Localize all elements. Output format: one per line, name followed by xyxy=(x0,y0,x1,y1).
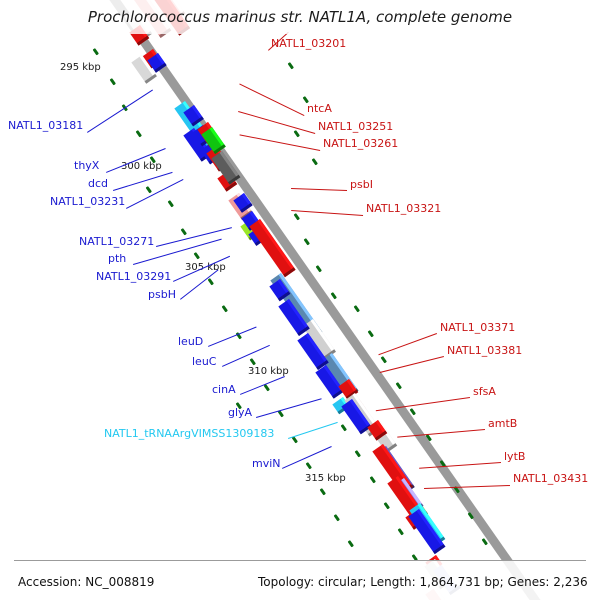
gene-label-lytb[interactable]: lytB xyxy=(504,451,525,463)
gene-label-leuc[interactable]: leuC xyxy=(192,356,216,368)
gene-label-sfsa[interactable]: sfsA xyxy=(473,386,496,398)
feature-tick-mark xyxy=(93,48,99,55)
page-title: Prochlorococcus marinus str. NATL1A, com… xyxy=(0,8,600,26)
feature-tick-mark xyxy=(398,528,404,535)
gene-label-natl1-03251[interactable]: NATL1_03251 xyxy=(318,121,393,133)
genome-graphics-canvas[interactable] xyxy=(0,0,600,600)
feature-tick-mark xyxy=(168,200,174,207)
feature-tick-mark xyxy=(312,158,318,165)
topology-text: Topology: circular; Length: 1,864,731 bp… xyxy=(258,575,588,589)
gene-label-ntca[interactable]: ntcA xyxy=(307,103,332,115)
gene-label-natl1-03371[interactable]: NATL1_03371 xyxy=(440,322,515,334)
gene-label-natl1-03291[interactable]: NATL1_03291 xyxy=(96,271,171,283)
feature-tick-mark xyxy=(396,382,402,389)
feature-tick-mark xyxy=(331,292,337,299)
feature-tick-mark xyxy=(294,130,300,137)
feature-tick-mark xyxy=(316,265,322,272)
gene-label-natl1-03181[interactable]: NATL1_03181 xyxy=(8,120,83,132)
gene-label-natl1-trnaargvimss1309183[interactable]: NATL1_tRNAArgVIMSS1309183 xyxy=(104,428,274,440)
scale-label-0: 295 kbp xyxy=(60,62,101,73)
feature-tick-mark xyxy=(146,186,152,193)
feature-tick-mark xyxy=(348,540,354,547)
gene-label-dcd[interactable]: dcd xyxy=(88,178,108,190)
gene-label-cina[interactable]: cinA xyxy=(212,384,236,396)
gene-label-natl1-03261[interactable]: NATL1_03261 xyxy=(323,138,398,150)
feature-tick-mark xyxy=(370,476,376,483)
feature-tick-mark xyxy=(354,305,360,312)
accession-text: Accession: NC_008819 xyxy=(18,575,154,589)
feature-tick-mark xyxy=(136,130,142,137)
feature-tick-mark xyxy=(110,78,116,85)
feature-tick-mark xyxy=(334,514,340,521)
gene-label-pth[interactable]: pth xyxy=(108,253,126,265)
feature-tick-mark xyxy=(250,358,256,365)
feature-tick-mark xyxy=(306,462,312,469)
feature-tick-mark xyxy=(381,356,387,363)
feature-tick-mark xyxy=(355,450,361,457)
feature-tick-mark xyxy=(320,488,326,495)
scale-label-4: 315 kbp xyxy=(305,473,346,484)
gene-label-natl1-03321[interactable]: NATL1_03321 xyxy=(366,203,441,215)
gene-label-thyx[interactable]: thyX xyxy=(74,160,99,172)
feature-tick-mark xyxy=(368,330,374,337)
feature-tick-mark xyxy=(288,62,294,69)
feature-tick-mark xyxy=(341,424,347,431)
gene-label-natl1-03201[interactable]: NATL1_03201 xyxy=(271,38,346,50)
gene-label-mvin[interactable]: mviN xyxy=(252,458,281,470)
gene-label-amtb[interactable]: amtB xyxy=(488,418,517,430)
scale-label-3: 310 kbp xyxy=(248,366,289,377)
gene-label-natl1-03231[interactable]: NATL1_03231 xyxy=(50,196,125,208)
status-divider xyxy=(14,560,586,561)
feature-tick-mark xyxy=(194,252,200,259)
feature-tick-mark xyxy=(208,278,214,285)
feature-tick-mark xyxy=(294,213,300,220)
gene-label-natl1-03271[interactable]: NATL1_03271 xyxy=(79,236,154,248)
feature-tick-mark xyxy=(181,228,187,235)
gene-label-natl1-03431[interactable]: NATL1_03431 xyxy=(513,473,588,485)
gene-label-glya[interactable]: glyA xyxy=(228,407,252,419)
gene-label-natl1-03381[interactable]: NATL1_03381 xyxy=(447,345,522,357)
feature-tick-mark xyxy=(304,238,310,245)
genome-map-viewer: 295 kbp300 kbp305 kbp310 kbp315 kbpNATL1… xyxy=(0,0,600,600)
gene-label-psbh[interactable]: psbH xyxy=(148,289,176,301)
gene-label-leud[interactable]: leuD xyxy=(178,336,203,348)
gene-label-psbi[interactable]: psbI xyxy=(350,179,373,191)
feature-tick-mark xyxy=(222,305,228,312)
feature-tick-mark xyxy=(384,502,390,509)
